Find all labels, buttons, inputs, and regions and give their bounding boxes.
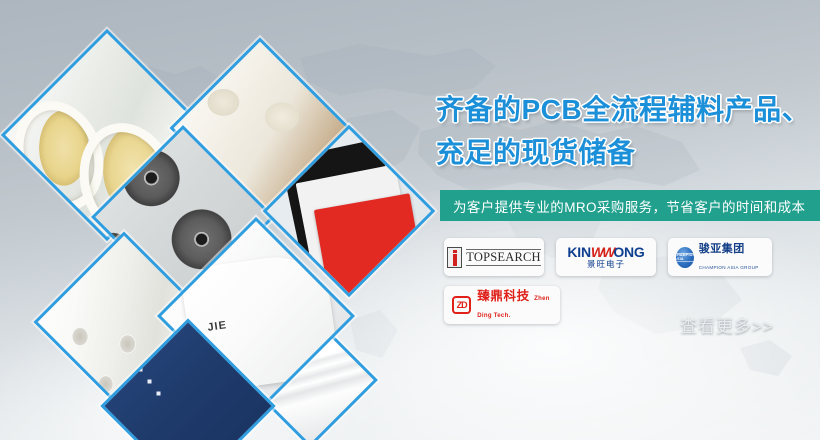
headline-line-2: 充足的现货储备 bbox=[436, 131, 816, 174]
topsearch-mark-icon bbox=[447, 247, 462, 268]
zhen-ding-wordmark-cn: 臻鼎科技 bbox=[477, 289, 529, 303]
partner-logo-champion-asia[interactable]: CHAMPION ASIA 骏亚集团 CHAMPION ASIA GROUP bbox=[668, 238, 772, 276]
globe-icon: CHAMPION ASIA bbox=[676, 247, 694, 268]
promo-banner: JIE 齐备的PCB全流程辅料产品、 充足的现货储备 为客户提供专业的MRO采购… bbox=[0, 0, 820, 440]
champion-asia-wordmark-cn: 骏亚集团 bbox=[699, 243, 745, 255]
champion-asia-wordmark-en: CHAMPION ASIA GROUP bbox=[699, 265, 759, 270]
partner-logo-row-1: TOPSEARCH KINWWONG 景旺电子 CHAMPION ASIA 骏亚… bbox=[444, 238, 820, 276]
headline-line-1: 齐备的PCB全流程辅料产品、 bbox=[436, 94, 810, 125]
topsearch-wordmark: TOPSEARCH bbox=[466, 249, 541, 266]
banner-subtitle-bar: 为客户提供专业的MRO采购服务，节省客户的时间和成本 bbox=[440, 190, 820, 221]
banner-subtitle-text: 为客户提供专业的MRO采购服务，节省客户的时间和成本 bbox=[453, 196, 805, 216]
banner-content: 齐备的PCB全流程辅料产品、 充足的现货储备 为客户提供专业的MRO采购服务，节… bbox=[430, 0, 820, 440]
partner-logo-kinwong[interactable]: KINWWONG 景旺电子 bbox=[556, 238, 656, 276]
partner-logo-topsearch[interactable]: TOPSEARCH bbox=[444, 238, 544, 276]
kinwong-wordmark-cn: 景旺电子 bbox=[567, 260, 644, 269]
product-tile-collage: JIE bbox=[0, 0, 440, 440]
banner-headline: 齐备的PCB全流程辅料产品、 充足的现货储备 bbox=[436, 88, 816, 174]
zhen-ding-mark-icon: ZD bbox=[452, 296, 471, 314]
release-film-brand-text: JIE bbox=[207, 319, 228, 334]
partner-logo-zhen-ding[interactable]: ZD 臻鼎科技 Zhen Ding Tech. bbox=[444, 286, 560, 324]
kinwong-wordmark: KINWWONG bbox=[567, 245, 644, 260]
view-more-link[interactable]: 查看更多>> bbox=[680, 312, 774, 337]
